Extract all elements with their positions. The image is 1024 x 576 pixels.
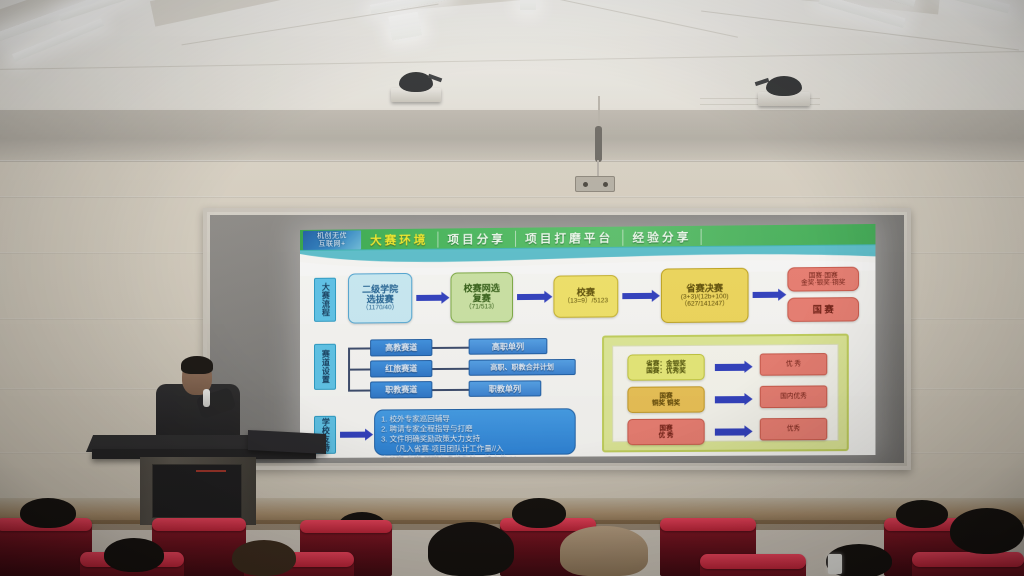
microphone [203,389,210,407]
branch-link-0 [432,347,468,349]
award-arrow-1 [715,396,746,403]
seat-headrest [912,552,1024,567]
flow-arrow-3 [753,292,780,298]
flow-node-1-title: 校赛网选 [464,283,500,293]
flow-node-0: 二级学院 选拔赛 （1170/40） [348,273,412,324]
award-from-0: 省赛：金银奖 国赛：优秀奖 [627,354,704,381]
award-arrow-2 [715,428,746,435]
branch-left-1: 红旅赛道 [370,360,432,377]
flow-node-3-detail: (3+3)/(12b+100) （627/141247） [681,293,729,308]
lecture-hall-scene: 机创无优 互联网+ 大赛环境 项目分享 项目打磨平台 经验分享 大赛流程 二级学… [0,0,1024,576]
seat-headrest [700,554,806,569]
lectern-right-wing [248,430,326,454]
seat-headrest [152,518,246,531]
support-arrow [340,432,366,438]
phone-screen [828,554,842,574]
seat-headrest [660,518,756,531]
audience-head [232,540,296,576]
wall-speaker-bracket [575,176,615,192]
branch-right-0: 高职单列 [469,338,548,355]
nav-item-2[interactable]: 项目打磨平台 [516,229,623,246]
slide-logo-line2: 互联网+ [318,240,345,248]
award-from-2-label: 国赛 优 秀 [658,425,673,440]
award-to-0-label: 优 秀 [786,361,801,368]
award-from-1: 国赛 铜奖 铜奖 [627,386,704,413]
flow-arrow-0 [416,295,442,301]
ceiling-light [388,12,422,41]
flow-node-0-detail: （1170/40） [362,305,398,313]
audience-head [950,508,1024,554]
lectern-control-panel [152,464,242,518]
award-arrow-0 [715,364,746,371]
ceiling [0,0,1024,118]
lectern-status-led [196,470,226,472]
outcome-node-0-label: 国赛·国赛 金奖·银奖·铜奖 [801,272,845,287]
outcome-node-1: 国 赛 [787,297,859,322]
flow-arrow-2 [622,293,652,299]
awards-panel: 省赛：金银奖 国赛：优秀奖 优 秀 国赛 铜奖 铜奖 国内优秀 国赛 优 秀 [602,334,849,453]
branch-right-2: 职教单列 [469,380,542,397]
branch-link-2 [432,389,468,391]
branch-left-0: 高教赛道 [370,339,432,357]
audience-head [896,500,948,528]
award-to-2-label: 优秀 [787,425,800,432]
slide-logo: 机创无优 互联网+ [303,230,361,250]
slide-body: 大赛流程 二级学院 选拔赛 （1170/40） 校赛网选 复赛 （71/513）… [300,264,875,458]
award-to-0: 优 秀 [760,353,828,376]
nav-item-3[interactable]: 经验分享 [623,228,701,245]
hanging-cable [598,96,600,130]
seat-headrest [300,520,392,533]
flow-node-1-detail: （71/513） [465,304,498,312]
audience-head [104,538,164,572]
branch-left-2: 职教赛道 [370,381,432,398]
audience-head [512,498,566,528]
nav-item-1[interactable]: 项目分享 [438,230,516,247]
flow-node-2-detail: （13=9）/5123 [564,298,608,306]
audience-head [428,522,514,576]
award-from-0-label: 省赛：金银奖 国赛：优秀奖 [646,360,686,375]
outcome-node-1-label: 国 赛 [813,304,834,314]
outcome-node-0: 国赛·国赛 金奖·银奖·铜奖 [787,267,859,292]
award-from-1-label: 国赛 铜奖 铜奖 [652,392,680,407]
branch-stub-1 [348,368,370,370]
flow-node-3-title: 省赛决赛 [686,283,723,294]
awards-panel-inner: 省赛：金银奖 国赛：优秀奖 优 秀 国赛 铜奖 铜奖 国内优秀 国赛 优 秀 [612,344,838,442]
nav-item-0[interactable]: 大赛环境 [361,231,438,248]
speaker-hair [181,356,213,374]
branch-link-1 [432,368,468,370]
award-to-2: 优秀 [760,418,828,441]
flow-node-1: 校赛网选 复赛 （71/513） [450,272,513,323]
projected-slide: 机创无优 互联网+ 大赛环境 项目分享 项目打磨平台 经验分享 大赛流程 二级学… [300,224,875,458]
audience-head [560,526,648,576]
ceiling-light [940,0,1010,13]
support-box: 1. 校外专家巡回辅导 2. 聘请专家全程指导与打磨 3. 文件明确奖励政策大力… [374,408,576,455]
flow-node-2: 校赛 （13=9）/5123 [553,275,618,318]
row2-side-label: 赛道设置 [314,344,336,390]
branch-stub-2 [348,390,370,392]
hanging-microphone [595,126,602,162]
flow-arrow-1 [517,294,545,300]
award-to-1: 国内优秀 [760,385,828,408]
ceiling-light [520,0,536,10]
flow-node-3: 省赛决赛 (3+3)/(12b+100) （627/141247） [661,268,749,323]
flow-node-2-title: 校赛 [577,288,595,298]
award-from-2: 国赛 优 秀 [627,419,704,446]
wall-upper-band [0,110,1024,162]
award-to-1-label: 国内优秀 [780,393,807,401]
audience-head [20,498,76,528]
row1-side-label: 大赛流程 [314,278,336,322]
branch-right-1: 高职、职教合并计划 [469,359,576,376]
branch-stub-0 [348,347,370,349]
